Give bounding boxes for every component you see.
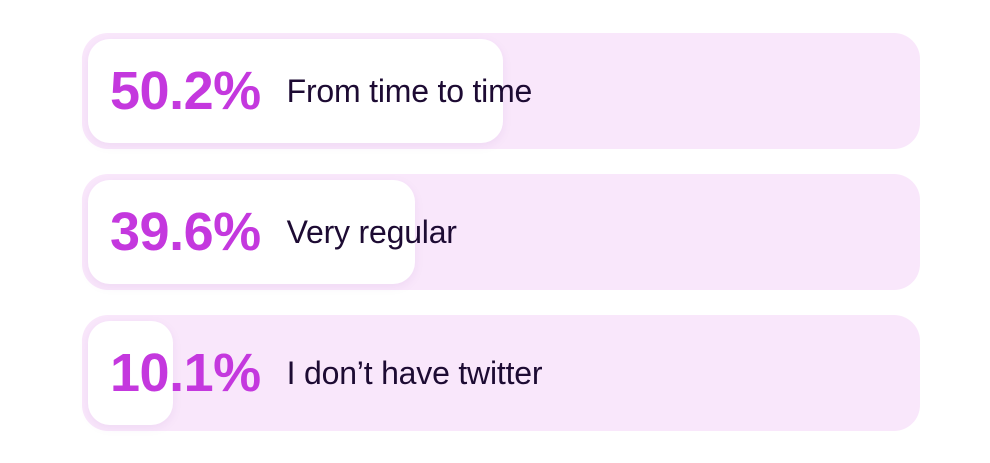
poll-row-content: 50.2% From time to time [82, 33, 920, 149]
poll-option-label: From time to time [287, 75, 533, 107]
poll-result-row[interactable]: 10.1% I don’t have twitter [82, 315, 920, 431]
poll-percent-value: 10.1% [110, 346, 261, 400]
poll-option-label: Very regular [287, 216, 457, 248]
poll-percent-value: 39.6% [110, 205, 261, 259]
poll-row-content: 10.1% I don’t have twitter [82, 315, 920, 431]
poll-row-content: 39.6% Very regular [82, 174, 920, 290]
poll-percent-value: 50.2% [110, 64, 261, 118]
poll-option-label: I don’t have twitter [287, 357, 543, 389]
poll-result-row[interactable]: 39.6% Very regular [82, 174, 920, 290]
poll-result-row[interactable]: 50.2% From time to time [82, 33, 920, 149]
poll-results-chart: 50.2% From time to time 39.6% Very regul… [82, 33, 920, 431]
